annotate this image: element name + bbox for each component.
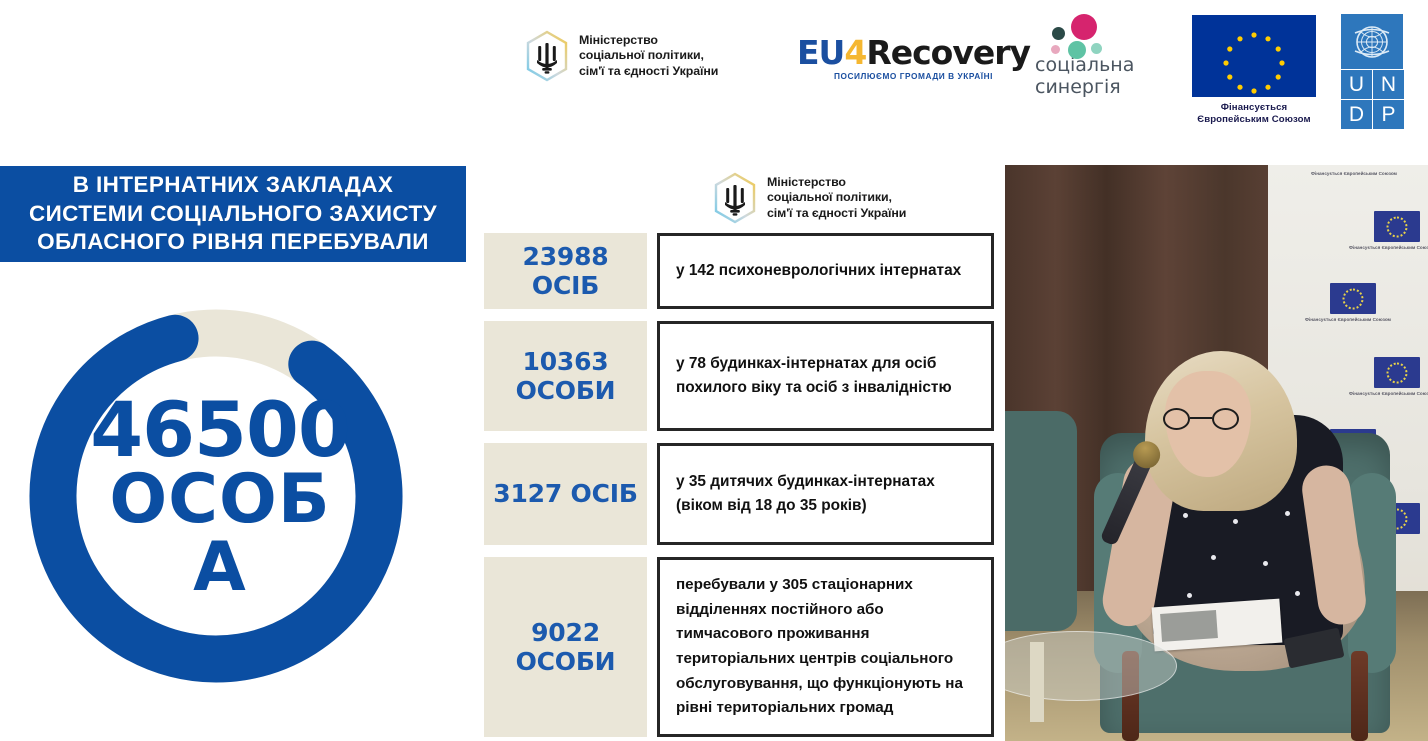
undp-letter-p: P (1373, 100, 1404, 129)
row-number: 23988 ОСІБ (484, 233, 647, 309)
row-number: 9022 ОСОБИ (484, 557, 647, 737)
table-row: 3127 ОСІБ у 35 дитячих будинках-інтернат… (484, 443, 994, 545)
row-description: у 78 будинках-інтернатах для осіб похило… (657, 321, 994, 431)
trident-hexagon-icon (712, 172, 758, 224)
row-spacer (647, 443, 657, 545)
eu4recovery-wordmark: EU4Recovery (797, 36, 1030, 69)
ministry-logo-text: Міністерство соціальної політики, сім'ї … (579, 33, 718, 79)
eu4recovery-tagline: ПОСИЛЮЄМО ГРОМАДИ В УКРАЇНІ (834, 71, 993, 81)
infographic-slide: Міністерство соціальної політики, сім'ї … (0, 0, 1428, 741)
donut-value-arc (20, 303, 420, 693)
table-stem (1030, 642, 1044, 722)
row-spacer (647, 233, 657, 309)
undp-letters: U N D P (1341, 70, 1404, 129)
eu-flag-icon (1330, 283, 1376, 314)
trident-hexagon-icon (524, 30, 570, 82)
undp-logo: U N D P (1341, 14, 1403, 129)
donut-chart: 46500 ОСОБА (20, 303, 420, 693)
banner-caption: Фінансується Європейським Союзом (1346, 245, 1428, 251)
eyeglasses-icon (1163, 408, 1239, 430)
banner-caption: Фінансується Європейським Союзом (1346, 391, 1428, 397)
photo-paper (1152, 599, 1283, 652)
ministry-logo: Міністерство соціальної політики, сім'ї … (524, 30, 718, 82)
donut-chart-svg (20, 303, 420, 693)
row-number: 10363 ОСОБИ (484, 321, 647, 431)
eu4recovery-eu: EU (797, 33, 844, 72)
eu-flag-icon (1374, 211, 1420, 242)
photo-second-chair (1005, 411, 1077, 631)
social-synergy-logo: соціальна синергія (1035, 12, 1134, 99)
header-logo-strip: Міністерство соціальної політики, сім'ї … (0, 0, 1428, 150)
eu-funding-caption: Фінансується Європейським Союзом (1197, 102, 1310, 127)
synergy-line-1: соціальна (1035, 54, 1134, 76)
row-number: 3127 ОСІБ (484, 443, 647, 545)
un-emblem-icon (1341, 14, 1403, 69)
eu4recovery-logo: EU4Recovery ПОСИЛЮЄМО ГРОМАДИ В УКРАЇНІ (797, 36, 1030, 81)
banner-title-block: В ІНТЕРНАТНИХ ЗАКЛАДАХ СИСТЕМИ СОЦІАЛЬНО… (0, 166, 466, 262)
table-row: 10363 ОСОБИ у 78 будинках-інтернатах для… (484, 321, 994, 431)
colored-dots-icon (1035, 12, 1125, 52)
stats-rows: 23988 ОСІБ у 142 психоневрологічних інте… (484, 233, 994, 741)
row-description: у 142 психоневрологічних інтернатах (657, 233, 994, 309)
undp-letter-u: U (1341, 70, 1372, 99)
undp-letter-d: D (1341, 100, 1372, 129)
banner-caption: Фінансується Європейським Союзом (1308, 171, 1400, 177)
row-description: у 35 дитячих будинках-інтернатах (віком … (657, 443, 994, 545)
eu4recovery-recovery: Recovery (866, 33, 1030, 72)
row-spacer (647, 557, 657, 737)
table-row: 9022 ОСОБИ перебували у 305 стаціонарних… (484, 557, 994, 737)
row-description: перебували у 305 стаціонарних відділення… (657, 557, 994, 737)
chair-leg-right (1351, 651, 1368, 741)
eu-funding-logo: Фінансується Європейським Союзом (1192, 15, 1316, 127)
banner-caption: Фінансується Європейським Союзом (1302, 317, 1394, 323)
eu4recovery-4: 4 (844, 33, 866, 72)
synergy-line-2: синергія (1035, 76, 1134, 98)
eu-flag-icon (1192, 15, 1316, 97)
ministry-logo-middle: Міністерство соціальної політики, сім'ї … (712, 172, 906, 224)
page-title: В ІНТЕРНАТНИХ ЗАКЛАДАХ СИСТЕМИ СОЦІАЛЬНО… (29, 171, 437, 257)
conference-photo: Фінансується Європейським Союзом Фінансу… (1005, 165, 1428, 741)
row-spacer (647, 321, 657, 431)
social-synergy-text: соціальна синергія (1035, 54, 1134, 99)
eu-flag-icon (1374, 357, 1420, 388)
undp-letter-n: N (1373, 70, 1404, 99)
ministry-logo-middle-text: Міністерство соціальної політики, сім'ї … (767, 175, 906, 221)
table-row: 23988 ОСІБ у 142 психоневрологічних інте… (484, 233, 994, 309)
